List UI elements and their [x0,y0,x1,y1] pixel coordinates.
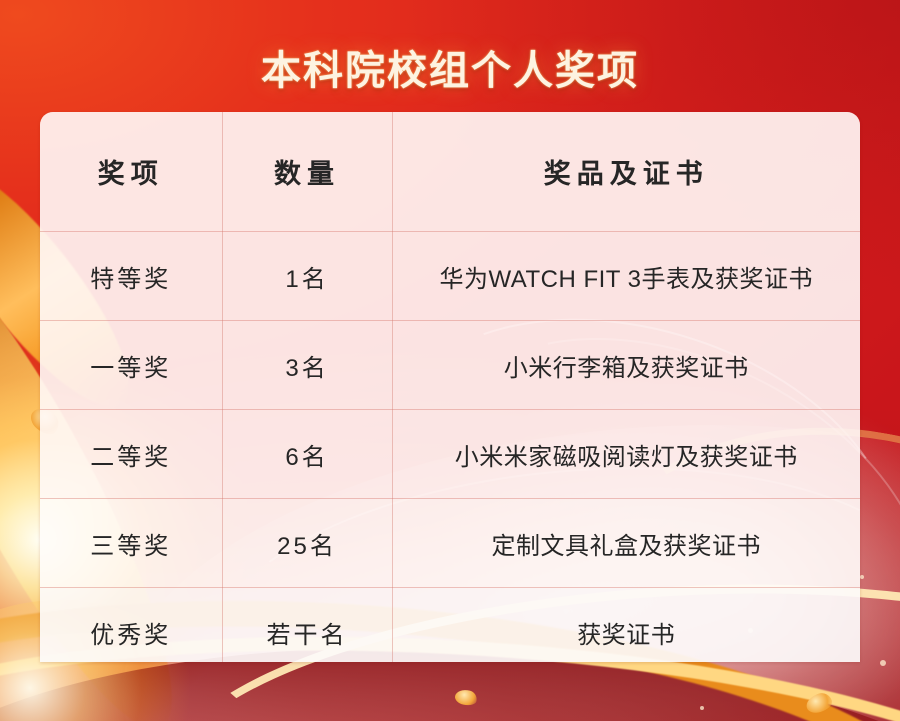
awards-table-container: 奖项 数量 奖品及证书 特等奖 1名 华为WATCH FIT 3手表及获奖证书 … [40,112,860,662]
cell-award: 三等奖 [40,499,222,588]
cell-quantity: 25名 [222,499,392,588]
column-header-quantity: 数量 [222,112,392,232]
table-row: 优秀奖 若干名 获奖证书 [40,588,860,663]
cell-award: 二等奖 [40,410,222,499]
cell-award: 优秀奖 [40,588,222,663]
cell-prize: 华为WATCH FIT 3手表及获奖证书 [392,232,860,321]
table-row: 三等奖 25名 定制文具礼盒及获奖证书 [40,499,860,588]
cell-prize: 定制文具礼盒及获奖证书 [392,499,860,588]
cell-quantity: 若干名 [222,588,392,663]
table-header-row: 奖项 数量 奖品及证书 [40,112,860,232]
cell-award: 一等奖 [40,321,222,410]
table-row: 特等奖 1名 华为WATCH FIT 3手表及获奖证书 [40,232,860,321]
table-row: 二等奖 6名 小米米家磁吸阅读灯及获奖证书 [40,410,860,499]
cell-prize: 小米行李箱及获奖证书 [392,321,860,410]
column-header-prize: 奖品及证书 [392,112,860,232]
cell-quantity: 6名 [222,410,392,499]
column-header-award: 奖项 [40,112,222,232]
table-row: 一等奖 3名 小米行李箱及获奖证书 [40,321,860,410]
cell-prize: 小米米家磁吸阅读灯及获奖证书 [392,410,860,499]
page-title: 本科院校组个人奖项 [0,38,900,96]
cell-prize: 获奖证书 [392,588,860,663]
awards-table: 奖项 数量 奖品及证书 特等奖 1名 华为WATCH FIT 3手表及获奖证书 … [40,112,860,662]
cell-quantity: 3名 [222,321,392,410]
cell-award: 特等奖 [40,232,222,321]
award-poster: 本科院校组个人奖项 奖项 数量 奖品及证书 特等奖 1名 华为WATCH FIT… [0,0,900,721]
cell-quantity: 1名 [222,232,392,321]
